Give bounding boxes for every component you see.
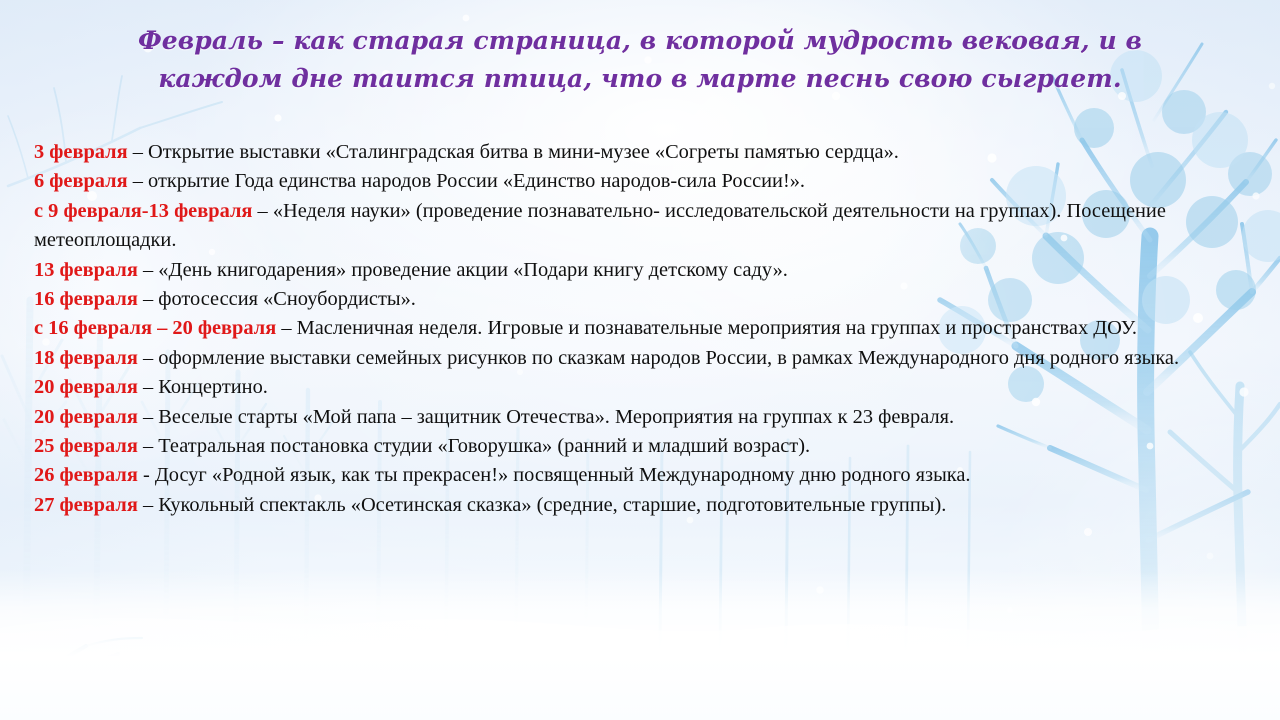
bottom-snow-drift: [0, 570, 1280, 720]
event-date: с 9 февраля-13 февраля: [34, 200, 252, 222]
event-text: – фотосессия «Сноубордисты».: [138, 288, 416, 310]
event-item: с 16 февраля – 20 февраля – Масленичная …: [34, 314, 1260, 343]
event-date: 20 февраля: [34, 376, 138, 398]
event-item: 6 февраля – открытие Года единства народ…: [34, 167, 1260, 196]
event-list: 3 февраля – Открытие выставки «Сталингра…: [34, 138, 1260, 520]
event-item: 13 февраля – «День книгодарения» проведе…: [34, 256, 1260, 285]
event-date: 27 февраля: [34, 494, 138, 516]
event-date: 25 февраля: [34, 435, 138, 457]
event-text: – Кукольный спектакль «Осетинская сказка…: [138, 494, 946, 516]
winter-event-poster: Февраль – как старая страница, в которой…: [0, 0, 1280, 720]
poster-title-line-1: Февраль – как старая страница, в которой…: [0, 22, 1280, 60]
event-item: 3 февраля – Открытие выставки «Сталингра…: [34, 138, 1260, 167]
event-text: – оформление выставки семейных рисунков …: [138, 347, 1179, 369]
event-date: 18 февраля: [34, 347, 138, 369]
poster-title: Февраль – как старая страница, в которой…: [0, 22, 1280, 98]
event-item: 16 февраля – фотосессия «Сноубордисты».: [34, 285, 1260, 314]
event-text: – Масленичная неделя. Игровые и познават…: [276, 317, 1137, 339]
event-text: – Веселые старты «Мой папа – защитник От…: [138, 406, 954, 428]
event-text: – Театральная постановка студии «Говоруш…: [138, 435, 810, 457]
poster-title-line-2: каждом дне таится птица, что в марте пес…: [0, 60, 1280, 98]
event-date: 20 февраля: [34, 406, 138, 428]
event-item: 26 февраля - Досуг «Родной язык, как ты …: [34, 461, 1260, 490]
event-item: 27 февраля – Кукольный спектакль «Осетин…: [34, 491, 1260, 520]
event-item: 20 февраля – Концертино.: [34, 373, 1260, 402]
event-date: 6 февраля: [34, 170, 128, 192]
event-text: – открытие Года единства народов России …: [128, 170, 805, 192]
event-text: – «День книгодарения» проведение акции «…: [138, 259, 788, 281]
event-text: – Концертино.: [138, 376, 268, 398]
event-date: 3 февраля: [34, 141, 128, 163]
event-item: с 9 февраля-13 февраля – «Неделя науки» …: [34, 197, 1260, 256]
event-text: - Досуг «Родной язык, как ты прекрасен!»…: [138, 464, 971, 486]
event-item: 20 февраля – Веселые старты «Мой папа – …: [34, 403, 1260, 432]
event-item: 18 февраля – оформление выставки семейны…: [34, 344, 1260, 373]
event-date: 13 февраля: [34, 259, 138, 281]
event-text: – Открытие выставки «Сталинградская битв…: [128, 141, 899, 163]
event-date: 16 февраля: [34, 288, 138, 310]
event-date: 26 февраля: [34, 464, 138, 486]
event-item: 25 февраля – Театральная постановка студ…: [34, 432, 1260, 461]
snow-drift-hills: [0, 618, 1280, 720]
event-date: с 16 февраля – 20 февраля: [34, 317, 276, 339]
snow-grass-blades: [12, 638, 1270, 718]
